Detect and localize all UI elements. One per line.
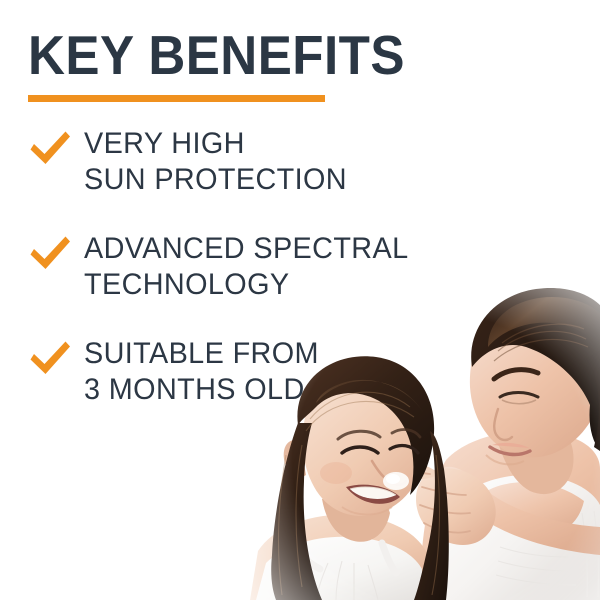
- list-item-line-1: ADVANCED SPECTRAL: [84, 231, 408, 267]
- check-icon: [28, 130, 72, 168]
- list-item-line-1: VERY HIGH: [84, 126, 347, 162]
- page-title: KEY BENEFITS: [28, 28, 428, 83]
- list-item-line-2: 3 MONTHS OLD: [84, 372, 319, 408]
- list-item-label: ADVANCED SPECTRAL TECHNOLOGY: [84, 231, 408, 303]
- list-item-line-2: SUN PROTECTION: [84, 162, 347, 198]
- benefits-list: VERY HIGH SUN PROTECTION ADVANCED SPECTR…: [28, 126, 428, 408]
- check-icon: [28, 235, 72, 273]
- check-icon: [28, 340, 72, 378]
- list-item-label: VERY HIGH SUN PROTECTION: [84, 126, 347, 198]
- list-item: ADVANCED SPECTRAL TECHNOLOGY: [28, 231, 428, 303]
- title-underline-rule: [28, 95, 325, 102]
- list-item: VERY HIGH SUN PROTECTION: [28, 126, 428, 198]
- list-item-label: SUITABLE FROM 3 MONTHS OLD: [84, 336, 319, 408]
- headline-block: KEY BENEFITS: [28, 28, 458, 102]
- list-item-line-1: SUITABLE FROM: [84, 336, 319, 372]
- list-item: SUITABLE FROM 3 MONTHS OLD: [28, 336, 428, 408]
- list-item-line-2: TECHNOLOGY: [84, 267, 408, 303]
- key-benefits-poster: KEY BENEFITS VERY HIGH SUN PROTECTION: [0, 0, 600, 600]
